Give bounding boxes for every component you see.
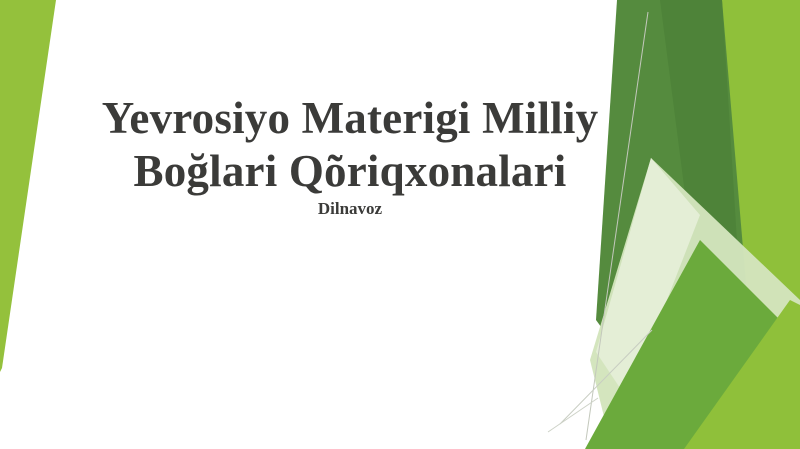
title-slide: Yevrosiyo Materigi Milliy Boğlari Qõriqx…	[0, 0, 800, 449]
slide-text-layer: Yevrosiyo Materigi Milliy Boğlari Qõriqx…	[0, 0, 800, 449]
slide-subtitle: Dilnavoz	[40, 198, 660, 220]
slide-title: Yevrosiyo Materigi Milliy Boğlari Qõriqx…	[40, 92, 660, 198]
